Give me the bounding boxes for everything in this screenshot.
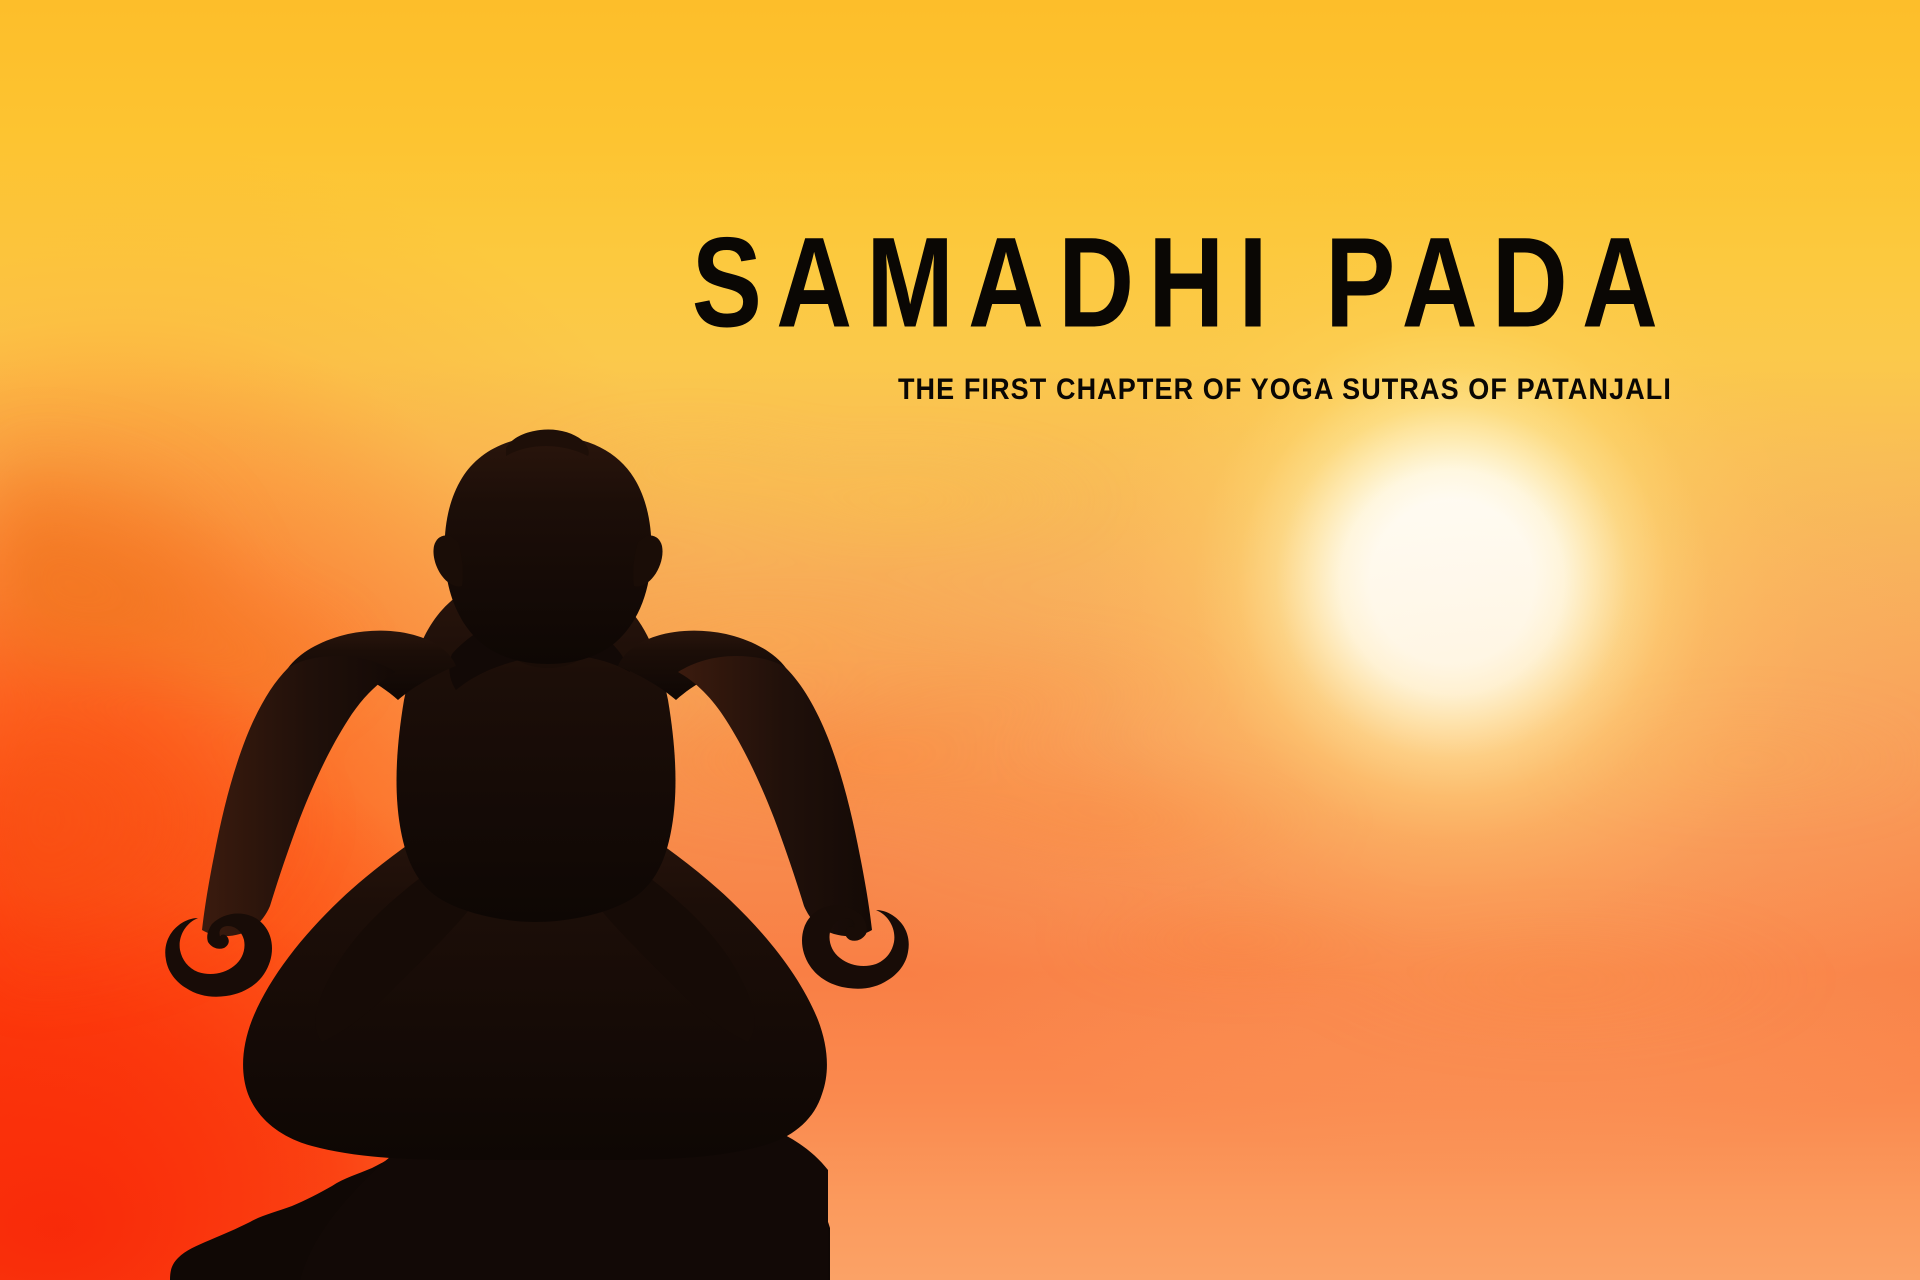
title-block: SAMADHI PADA THE FIRST CHAPTER OF YOGA S… [0, 0, 1672, 400]
poster-canvas: SAMADHI PADA THE FIRST CHAPTER OF YOGA S… [0, 0, 1920, 1280]
page-title: SAMADHI PADA [100, 0, 1672, 347]
page-subtitle: THE FIRST CHAPTER OF YOGA SUTRAS OF PATA… [0, 347, 1672, 404]
